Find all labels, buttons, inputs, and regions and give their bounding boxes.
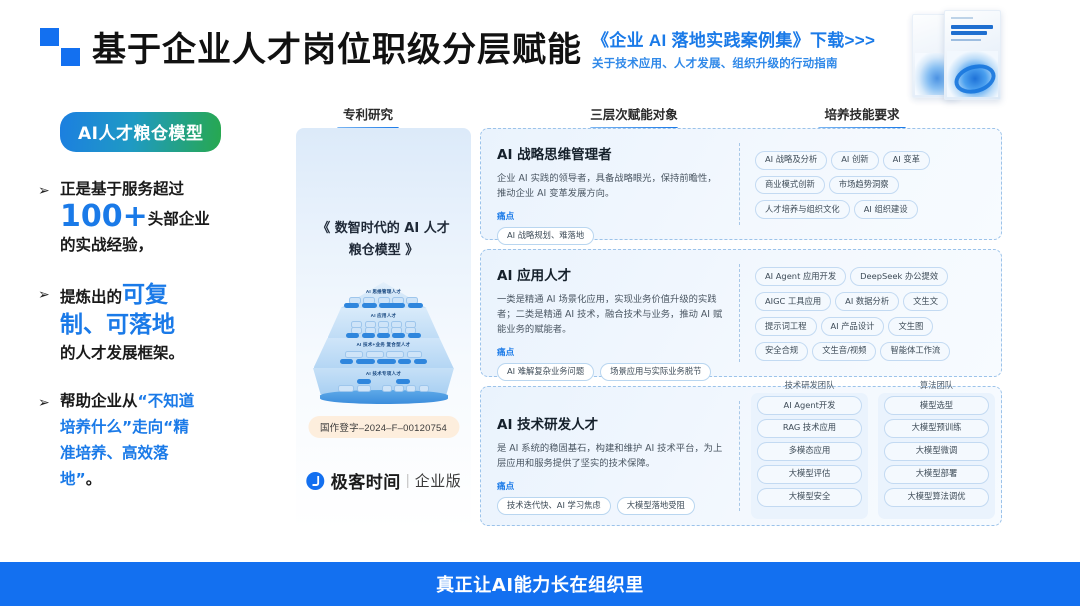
bullet-list: ➢ 正是基于服务超过 100+头部企业 的实战经验， ➢ 提炼出的可复 制、可落… — [38, 176, 288, 492]
list-item: ➢ 帮助企业从“不知道 培养什么”走向“精 准培养、高效落 地”。 — [38, 388, 288, 492]
bullet-2-prefix: 提炼出的 — [60, 288, 122, 306]
skill-tag: AI 战略及分析 — [755, 151, 827, 170]
promo-block[interactable]: 《企业 AI 落地实践案例集》下载>>> 关于技术应用、人才发展、组织升级的行动… — [592, 26, 892, 71]
skill-tag: 文生音/视频 — [812, 342, 876, 361]
card-left-content: AI 技术研发人才 是 AI 系统的稳固基石，构建和维护 AI 技术平台，为上层… — [481, 387, 739, 525]
left-summary-column: AI人才粮仓模型 ➢ 正是基于服务超过 100+头部企业 的实战经验， ➢ 提炼… — [38, 112, 288, 514]
skill-tag: 大模型安全 — [757, 488, 862, 507]
bullet-1-line1: 正是基于服务超过 — [60, 180, 184, 198]
bullet-1-line3: 的实战经验， — [60, 236, 153, 254]
skill-tag: AIGC 工具应用 — [755, 292, 831, 311]
skill-tag: 人才培养与组织文化 — [755, 200, 850, 219]
bullet-marker-icon: ➢ — [38, 176, 60, 258]
card-description: 是 AI 系统的稳固基石，构建和维护 AI 技术平台，为上层应用和服务提供了坚实… — [497, 441, 725, 471]
skill-tag: 大模型微调 — [884, 442, 989, 461]
talent-card-strategic[interactable]: AI 战略思维管理者 企业 AI 实践的领导者，具备战略眼光，保持前瞻性，推动企… — [480, 128, 1002, 240]
book-title: 《 数智时代的 AI 人才 粮仓模型 》 — [296, 218, 471, 262]
skill-tag: 大模型算法调优 — [884, 488, 989, 507]
pain-tag: 场景应用与实际业务脱节 — [600, 363, 711, 381]
promo-title[interactable]: 《企业 AI 落地实践案例集》下载>>> — [592, 26, 892, 51]
card-left-content: AI 应用人才 一类是精通 AI 场景化应用，实现业务价值升级的实践者；二类是精… — [481, 250, 739, 376]
pain-tag: AI 战略规划、难落地 — [497, 227, 594, 245]
card-title: AI 技术研发人才 — [497, 413, 725, 433]
bullet-2-tail: 的人才发展框架。 — [60, 344, 184, 362]
skill-tag: 安全合规 — [755, 342, 808, 361]
pyramid-layer-label-3: AI 技术+业务 复合型人才 — [304, 342, 463, 348]
patent-book-panel: 《 数智时代的 AI 人才 粮仓模型 》 AI 思维管理人才 AI 应用人才 A… — [296, 128, 471, 530]
bullet-3-highlight-2: 培养什么”走向“精 — [60, 418, 189, 436]
pain-tag: 大模型落地受阻 — [617, 497, 695, 515]
pyramid-layer-label-2: AI 应用人才 — [304, 313, 463, 319]
pain-tag: 技术迭代快、AI 学习焦虑 — [497, 497, 611, 515]
pain-tag: AI 难解复杂业务问题 — [497, 363, 594, 381]
list-item: ➢ 正是基于服务超过 100+头部企业 的实战经验， — [38, 176, 288, 258]
pain-point-label: 痛点 — [497, 210, 725, 222]
footer-banner: 真正让AI能力长在组织里 — [0, 562, 1080, 606]
talent-card-application[interactable]: AI 应用人才 一类是精通 AI 场景化应用，实现业务价值升级的实践者；二类是精… — [480, 249, 1002, 377]
skill-tag: AI 组织建设 — [854, 200, 918, 219]
geektime-mark-icon — [306, 472, 324, 490]
footer-text: 真正让AI能力长在组织里 — [436, 571, 644, 597]
pyramid-layer-label-4: AI 技术专项人才 — [304, 371, 463, 377]
team-skill-columns: 技术研发团队 AI Agent开发 RAG 技术应用 多模态应用 大模型评估 大… — [741, 387, 1001, 525]
skill-tag: 智能体工作流 — [880, 342, 950, 361]
talent-tier-cards: AI 战略思维管理者 企业 AI 实践的领导者，具备战略眼光，保持前瞻性，推动企… — [480, 128, 1002, 535]
copyright-registration-number: 国作登字–2024–F–00120754 — [308, 416, 459, 438]
brand-squares-icon — [40, 28, 82, 68]
skill-tag: AI 产品设计 — [821, 317, 885, 336]
team-column-engineering: 技术研发团队 AI Agent开发 RAG 技术应用 多模态应用 大模型评估 大… — [751, 393, 868, 519]
slide-header: 基于企业人才岗位职级分层赋能 《企业 AI 落地实践案例集》下载>>> 关于技术… — [0, 0, 1080, 92]
card-title: AI 应用人才 — [497, 264, 725, 284]
bullet-3-highlight-4: 地” — [60, 470, 86, 488]
card-description: 企业 AI 实践的领导者，具备战略眼光，保持前瞻性，推动企业 AI 变革发展方向… — [497, 171, 725, 201]
skill-tag: 多模态应用 — [757, 442, 862, 461]
skill-tag: 大模型部署 — [884, 465, 989, 484]
page-title: 基于企业人才岗位职级分层赋能 — [92, 22, 582, 71]
book-title-line1: 《 数智时代的 AI 人才 — [317, 221, 449, 236]
geektime-logo: 极客时间 | 企业版 — [306, 468, 461, 493]
list-item: ➢ 提炼出的可复 制、可落地 的人才发展框架。 — [38, 280, 288, 366]
bullet-3-prefix: 帮助企业从 — [60, 392, 138, 410]
bullet-3-highlight-3: 准培养、高效落 — [60, 444, 169, 462]
bullet-1-after-number: 头部企业 — [148, 210, 210, 228]
pain-point-tags: AI 难解复杂业务问题 场景应用与实际业务脱节 — [497, 363, 725, 381]
pain-point-tags: 技术迭代快、AI 学习焦虑 大模型落地受阻 — [497, 497, 725, 515]
skill-tag: AI Agent开发 — [757, 396, 862, 415]
geektime-brand-name: 极客时间 — [331, 468, 401, 493]
skill-tag-list: AI 战略及分析 AI 创新 AI 变革 商业模式创新 市场趋势洞察 人才培养与… — [741, 129, 1001, 239]
skill-tag: DeepSeek 办公提效 — [850, 267, 948, 286]
talent-pyramid-diagram: AI 思维管理人才 AI 应用人才 AI 技术+业务 复合型人才 AI 技术专项… — [304, 280, 463, 402]
pain-point-label: 痛点 — [497, 480, 725, 492]
skill-tag: 商业模式创新 — [755, 176, 825, 195]
model-name-badge: AI人才粮仓模型 — [60, 112, 221, 152]
bullet-2-highlight-2: 制、可落地 — [60, 312, 175, 338]
promo-subtitle: 关于技术应用、人才发展、组织升级的行动指南 — [592, 55, 892, 71]
team-column-algorithm: 算法团队 模型选型 大模型预训练 大模型微调 大模型部署 大模型算法调优 — [878, 393, 995, 519]
skill-tag-list: AI Agent 应用开发 DeepSeek 办公提效 AIGC 工具应用 AI… — [741, 250, 1001, 376]
skill-tag: 大模型预训练 — [884, 419, 989, 438]
card-title: AI 战略思维管理者 — [497, 143, 725, 163]
slide-root: 基于企业人才岗位职级分层赋能 《企业 AI 落地实践案例集》下载>>> 关于技术… — [0, 0, 1080, 606]
skill-tag: 文生文 — [903, 292, 948, 311]
pyramid-layer-label-1: AI 思维管理人才 — [304, 289, 463, 295]
bullet-1-number: 100+ — [60, 199, 148, 234]
skill-tag: 文生图 — [888, 317, 933, 336]
pain-point-label: 痛点 — [497, 346, 725, 358]
bullet-marker-icon: ➢ — [38, 280, 60, 366]
card-left-content: AI 战略思维管理者 企业 AI 实践的领导者，具备战略眼光，保持前瞻性，推动企… — [481, 129, 739, 239]
bullet-3-tail: 。 — [86, 470, 102, 488]
skill-tag: 大模型评估 — [757, 465, 862, 484]
skill-tag: RAG 技术应用 — [757, 419, 862, 438]
skill-tag: 提示词工程 — [755, 317, 817, 336]
bullet-3-highlight-1: “不知道 — [138, 392, 195, 410]
skill-tag: AI 创新 — [831, 151, 878, 170]
bullet-marker-icon: ➢ — [38, 388, 60, 492]
bullet-2-highlight-1: 可复 — [122, 282, 168, 308]
skill-tag: 模型选型 — [884, 396, 989, 415]
card-description: 一类是精通 AI 场景化应用，实现业务价值升级的实践者；二类是精通 AI 技术，… — [497, 292, 725, 337]
team-name: 技术研发团队 — [757, 379, 862, 391]
ebook-cover-image — [900, 4, 1040, 100]
book-title-line2: 粮仓模型 》 — [349, 243, 419, 258]
skill-tag: AI 数据分析 — [835, 292, 899, 311]
skill-tag: AI 变革 — [883, 151, 930, 170]
skill-tag: AI Agent 应用开发 — [755, 267, 846, 286]
talent-card-engineering[interactable]: AI 技术研发人才 是 AI 系统的稳固基石，构建和维护 AI 技术平台，为上层… — [480, 386, 1002, 526]
skill-tag: 市场趋势洞察 — [829, 176, 899, 195]
geektime-edition-name: 企业版 — [415, 470, 462, 491]
team-name: 算法团队 — [884, 379, 989, 391]
brand-separator: | — [406, 472, 410, 489]
